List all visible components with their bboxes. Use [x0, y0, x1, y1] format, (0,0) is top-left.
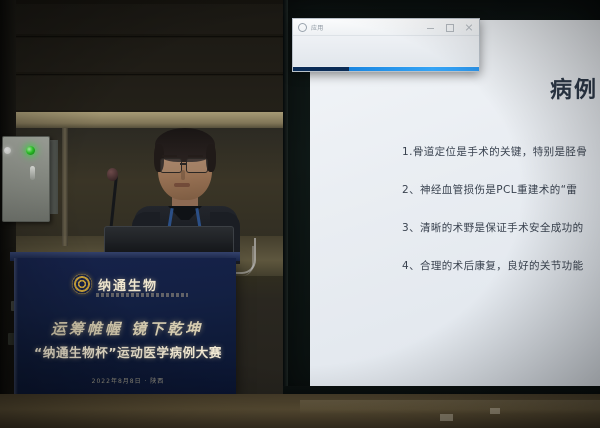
slide-title: 病例: [550, 72, 598, 104]
presentation-slide: 病例 1.骨道定位是手术的关键，特别是胫骨 2、神经血管损伤是PCL重建术的“雷…: [310, 20, 600, 388]
brand-subtitle-pinyin: [96, 293, 188, 297]
glasses-bridge: [180, 163, 186, 165]
floor-marking: [440, 414, 453, 421]
app-window-icon: [298, 23, 307, 32]
minimize-button[interactable]: [426, 23, 435, 32]
nose: [181, 170, 185, 180]
slide-bullet-list: 1.骨道定位是手术的关键，特别是胫骨 2、神经血管损伤是PCL重建术的“雷 3、…: [402, 144, 600, 296]
glasses-lens-right: [186, 158, 208, 173]
wall-trim-band: [10, 112, 295, 128]
wall-seam: [0, 74, 300, 75]
eyebrow-left: [162, 155, 177, 157]
spiral-logo-icon: [72, 274, 92, 294]
floor-marking: [490, 408, 500, 414]
conference-room-photo: 纳通生物 运筹帷幄 镜下乾坤 “纳通生物杯”运动医学病例大赛 2022年8月8日…: [0, 0, 600, 428]
white-status-led: [4, 147, 11, 154]
window-controls[interactable]: [426, 19, 477, 35]
brand-name: 纳通生物: [98, 275, 158, 294]
podium-edge-highlight: [14, 258, 18, 394]
window-content-area: [293, 36, 479, 66]
close-button[interactable]: [464, 23, 473, 32]
floor-reflection: [300, 400, 600, 414]
wall-panel: [0, 76, 292, 110]
wall-panel: [0, 4, 292, 34]
control-knob[interactable]: [30, 166, 35, 180]
event-title: “纳通生物杯”运动医学病例大赛: [20, 342, 236, 361]
microphone-head: [107, 168, 118, 181]
slide-bullet: 3、清晰的术野是保证手术安全成功的: [402, 220, 600, 235]
wall-panel: [0, 38, 292, 72]
wall-conduit: [62, 128, 68, 246]
maximize-button[interactable]: [445, 23, 454, 32]
mouth: [174, 183, 190, 187]
display-bezel-left: [283, 0, 288, 400]
window-titlebar[interactable]: 应用: [293, 19, 479, 36]
glasses-lens-left: [160, 158, 182, 173]
slide-bullet: 2、神经血管损伤是PCL重建术的“雷: [402, 182, 600, 197]
calligraphy-slogan: 运筹帷幄 镜下乾坤: [42, 318, 212, 339]
wall-seam: [0, 36, 300, 37]
eyebrow-right: [188, 155, 203, 157]
window-title: 应用: [311, 23, 324, 32]
slide-bullet: 4、合理的术后康复，良好的关节功能: [402, 258, 600, 273]
application-window[interactable]: 应用: [292, 18, 480, 72]
green-status-led: [26, 146, 35, 155]
slide-bullet: 1.骨道定位是手术的关键，特别是胫骨: [402, 144, 600, 159]
event-date-location: 2022年8月8日 · 陕西: [40, 376, 216, 385]
window-accent-bar: [293, 67, 479, 71]
